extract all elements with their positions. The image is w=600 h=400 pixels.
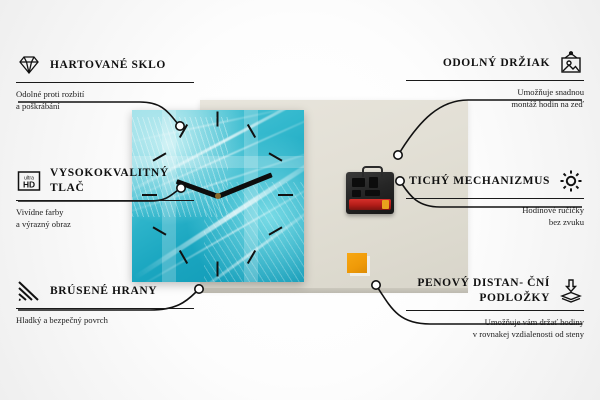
mechanism-detail	[365, 190, 380, 196]
feature-glass-title: HARTOVANÉ SKLO	[50, 58, 166, 73]
infographic-canvas: HARTOVANÉ SKLO Odolné proti rozbití a po…	[0, 0, 600, 400]
feature-mechanism-title: TICHÝ MECHANIZMUS	[409, 174, 550, 189]
feature-glass: HARTOVANÉ SKLO Odolné proti rozbití a po…	[16, 52, 194, 112]
mechanism-detail	[352, 190, 361, 197]
battery	[349, 199, 391, 210]
hour-marker	[278, 194, 293, 196]
feature-print-title: VYSOKOKVALITNÝ TLAČ	[50, 166, 194, 196]
feature-mechanism-rule	[406, 198, 584, 199]
feature-holder-desc: Umožňuje snadnou montáž hodin na zeď	[406, 86, 584, 110]
feature-glass-rule	[16, 82, 194, 83]
feature-print-rule	[16, 200, 194, 201]
feature-mechanism-header: TICHÝ MECHANIZMUS	[406, 168, 584, 194]
diagonal-stripes-icon	[16, 278, 42, 304]
feature-print-header: ultra HD VYSOKOKVALITNÝ TLAČ	[16, 166, 194, 196]
feature-foam-rule	[406, 310, 584, 311]
feature-edges-header: BRÚSENÉ HRANY	[16, 278, 194, 304]
feature-holder-header: ODOLNÝ DRŽIAK	[406, 50, 584, 76]
picture-frame-icon	[558, 50, 584, 76]
hour-marker	[217, 262, 219, 277]
feature-glass-header: HARTOVANÉ SKLO	[16, 52, 194, 78]
feature-holder: ODOLNÝ DRŽIAK Umožňuje snadnou montáž ho…	[406, 50, 584, 110]
feature-foam-title: PENOVÝ DISTAN- ČNÍ PODLOŽKY	[406, 276, 550, 306]
gear-icon	[558, 168, 584, 194]
feature-foam: PENOVÝ DISTAN- ČNÍ PODLOŽKY Umožňuje vám…	[406, 276, 584, 340]
feature-foam-header: PENOVÝ DISTAN- ČNÍ PODLOŽKY	[406, 276, 584, 306]
feature-mechanism-desc: Hodinové ručičky bez zvuku	[406, 204, 584, 228]
feature-holder-title: ODOLNÝ DRŽIAK	[443, 56, 550, 71]
feature-edges-rule	[16, 308, 194, 309]
mechanism-hanger	[362, 166, 383, 177]
feature-holder-rule	[406, 80, 584, 81]
feature-print-desc: Vivídne farby a výrazný obraz	[16, 206, 194, 230]
svg-text:HD: HD	[23, 179, 35, 189]
feature-mechanism: TICHÝ MECHANIZMUS Hodinové ručičky bez z…	[406, 168, 584, 228]
clock-pivot	[215, 193, 221, 199]
feature-glass-desc: Odolné proti rozbití a poškrábání	[16, 88, 194, 112]
feature-edges-desc: Hladký a bezpečný povrch	[16, 314, 194, 326]
feature-edges: BRÚSENÉ HRANY Hladký a bezpečný povrch	[16, 278, 194, 326]
feature-edges-title: BRÚSENÉ HRANY	[50, 284, 157, 299]
stacked-pads-arrow-icon	[558, 278, 584, 304]
clock-mechanism	[346, 172, 394, 214]
foam-spacer-pad	[347, 253, 367, 273]
mechanism-detail	[369, 177, 378, 188]
ultra-hd-icon: ultra HD	[16, 168, 42, 194]
diamond-icon	[16, 52, 42, 78]
hour-marker	[217, 112, 219, 127]
feature-print: ultra HD VYSOKOKVALITNÝ TLAČ Vivídne far…	[16, 166, 194, 230]
feature-foam-desc: Umožňuje vám držať hodiny v rovnakej vzd…	[406, 316, 584, 340]
mechanism-detail	[352, 178, 365, 187]
